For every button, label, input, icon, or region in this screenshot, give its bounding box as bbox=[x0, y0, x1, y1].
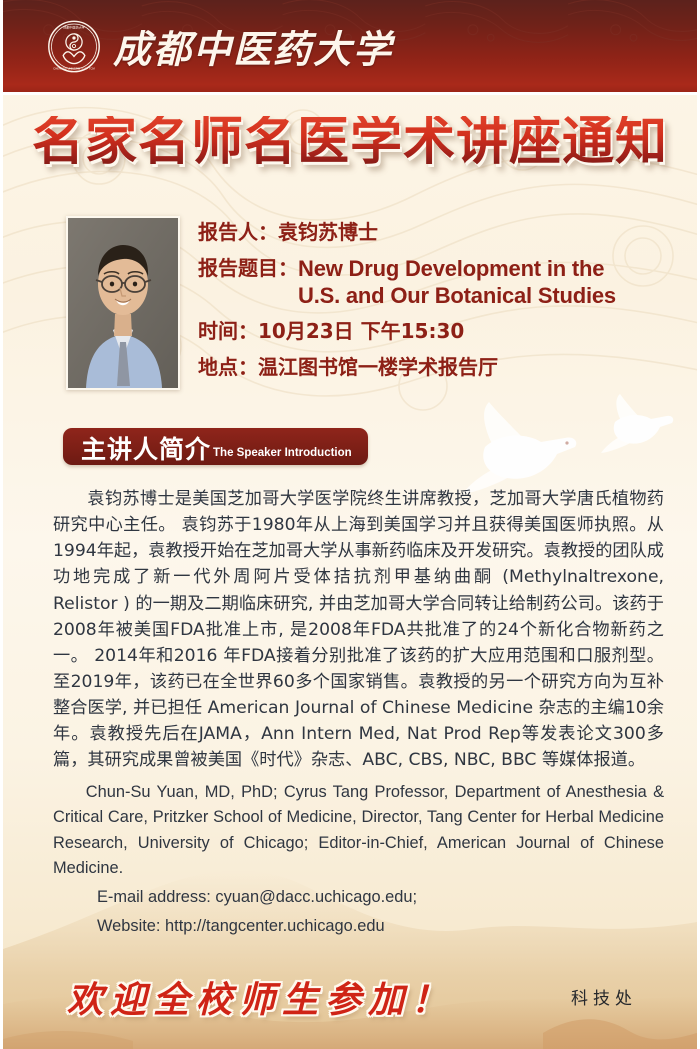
speaker-name: 袁钧苏博士 bbox=[278, 220, 378, 245]
topic-line-2: U.S. and Our Botanical Studies bbox=[298, 283, 616, 310]
university-name: 成都中医药大学 bbox=[113, 19, 393, 74]
bio-paragraph-chinese: 袁钧苏博士是美国芝加哥大学医学院终生讲席教授，芝加哥大学唐氏植物药研究中心主任。… bbox=[53, 486, 664, 774]
speaker-portrait bbox=[66, 216, 180, 390]
university-logo-icon: 成都中医药大学 CHENGDU UNIVERSITY OF TCM bbox=[47, 19, 101, 73]
bio-paragraph-english: Chun-Su Yuan, MD, PhD; Cyrus Tang Profes… bbox=[53, 780, 664, 882]
header-divider bbox=[3, 92, 697, 95]
header-banner: 成都中医药大学 CHENGDU UNIVERSITY OF TCM 成都中医药大… bbox=[3, 0, 697, 92]
topic-value: New Drug Development in the U.S. and Our… bbox=[298, 256, 616, 310]
venue-value: 温江图书馆一楼学术报告厅 bbox=[258, 355, 498, 380]
lecture-details: 报告人： 袁钧苏博士 报告题目： New Drug Development in… bbox=[198, 216, 673, 391]
speaker-bio-body: 袁钧苏博士是美国芝加哥大学医学院终生讲席教授，芝加哥大学唐氏植物药研究中心主任。… bbox=[53, 486, 664, 939]
topic-row: 报告题目： New Drug Development in the U.S. a… bbox=[198, 256, 673, 310]
speaker-label: 报告人： bbox=[198, 220, 278, 245]
time-label: 时间： bbox=[198, 319, 258, 344]
section-title-cn: 主讲人简介 bbox=[81, 430, 211, 466]
topic-label: 报告题目： bbox=[198, 256, 298, 281]
venue-row: 地点： 温江图书馆一楼学术报告厅 bbox=[198, 355, 673, 380]
website-line: Website: http://tangcenter.uchicago.edu bbox=[97, 913, 664, 940]
email-line: E-mail address: cyuan@dacc.uchicago.edu; bbox=[97, 884, 664, 911]
speaker-row: 报告人： 袁钧苏博士 bbox=[198, 220, 673, 245]
issuing-department: 科技处 bbox=[571, 984, 637, 1009]
time-value: 10月23日 下午15:30 bbox=[258, 319, 464, 344]
section-title-en: The Speaker Introduction bbox=[213, 447, 352, 459]
welcome-message: 欢迎全校师生参加！ bbox=[67, 971, 454, 1023]
svg-text:成都中医药大学: 成都中医药大学 bbox=[63, 24, 84, 29]
svg-text:CHENGDU UNIVERSITY OF TCM: CHENGDU UNIVERSITY OF TCM bbox=[53, 66, 95, 70]
speaker-introduction-header: 主讲人简介 The Speaker Introduction bbox=[63, 428, 368, 465]
page-title: 名家名师名医学术讲座通知 bbox=[3, 116, 697, 168]
lecture-info-block: 报告人： 袁钧苏博士 报告题目： New Drug Development in… bbox=[66, 216, 673, 391]
time-row: 时间： 10月23日 下午15:30 bbox=[198, 319, 673, 344]
venue-label: 地点： bbox=[198, 355, 258, 380]
topic-line-1: New Drug Development in the bbox=[298, 256, 604, 281]
lecture-poster: 成都中医药大学 CHENGDU UNIVERSITY OF TCM 成都中医药大… bbox=[0, 0, 700, 1049]
